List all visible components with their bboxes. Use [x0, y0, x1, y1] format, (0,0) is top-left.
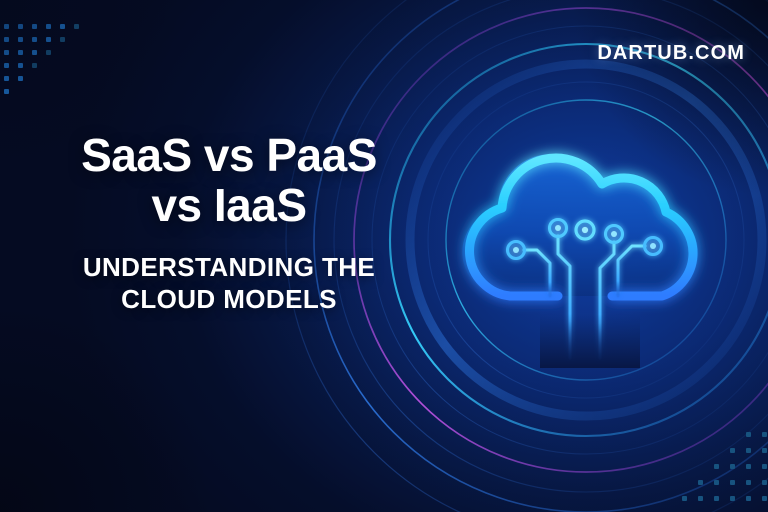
subtitle-line-2: CLOUD MODELS	[24, 284, 434, 316]
dot-grid-bottom-right	[700, 432, 764, 496]
banner-root: DARTUB.COM SaaS vs PaaS vs IaaS UNDERSTA…	[0, 0, 768, 512]
cloud-circuit-icon	[440, 118, 730, 368]
headline-block: SaaS vs PaaS vs IaaS UNDERSTANDING THE C…	[24, 131, 434, 316]
title-line-2: vs IaaS	[24, 181, 434, 231]
page-title: SaaS vs PaaS vs IaaS	[24, 131, 434, 230]
dot-grid-top-left	[4, 24, 74, 88]
title-line-1: SaaS vs PaaS	[24, 131, 434, 181]
brand-logo-text[interactable]: DARTUB.COM	[597, 42, 745, 65]
subtitle-line-1: UNDERSTANDING THE	[24, 252, 434, 284]
page-subtitle: UNDERSTANDING THE CLOUD MODELS	[24, 252, 434, 315]
